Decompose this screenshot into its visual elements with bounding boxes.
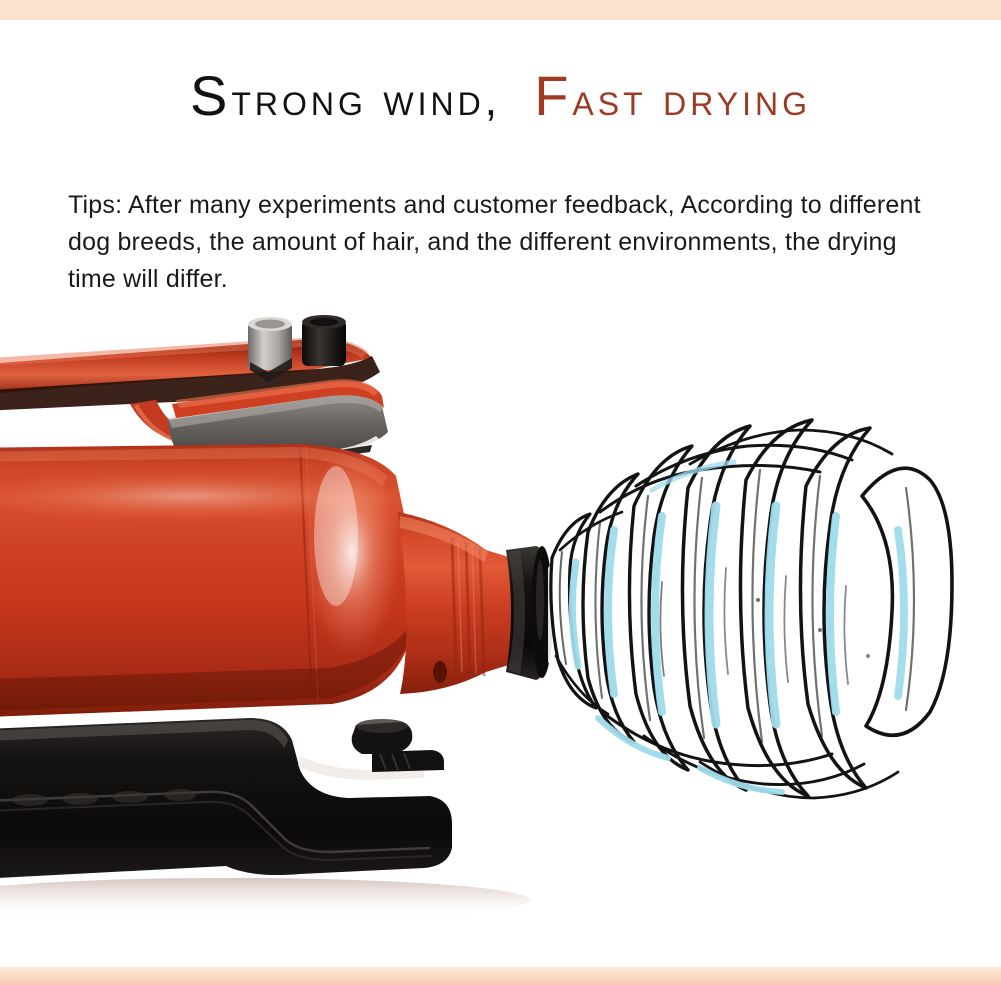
page-title: Strong wind, Fast drying	[0, 68, 1001, 124]
product-scene	[0, 300, 1001, 940]
cone	[398, 512, 512, 694]
black-knob[interactable]	[302, 315, 346, 366]
product-photo	[0, 300, 1001, 940]
tips-paragraph: Tips: After many experiments and custome…	[68, 187, 930, 298]
nozzle-ring	[506, 546, 553, 680]
barrel	[0, 444, 420, 718]
decor-band-top	[0, 0, 1001, 20]
headline-part-two: Fast drying	[534, 74, 811, 125]
rubber-foot	[352, 719, 413, 754]
floor-reflection	[0, 878, 530, 922]
headline-part-one: Strong wind,	[190, 74, 501, 125]
airflow-vortex-sketch	[548, 420, 952, 798]
hl-2-lead-cap: F	[534, 64, 572, 127]
hl-1-lead-cap: S	[190, 64, 231, 127]
decor-band-bottom	[0, 967, 1001, 985]
marketing-image: Strong wind, Fast drying Tips: After man…	[0, 0, 1001, 985]
